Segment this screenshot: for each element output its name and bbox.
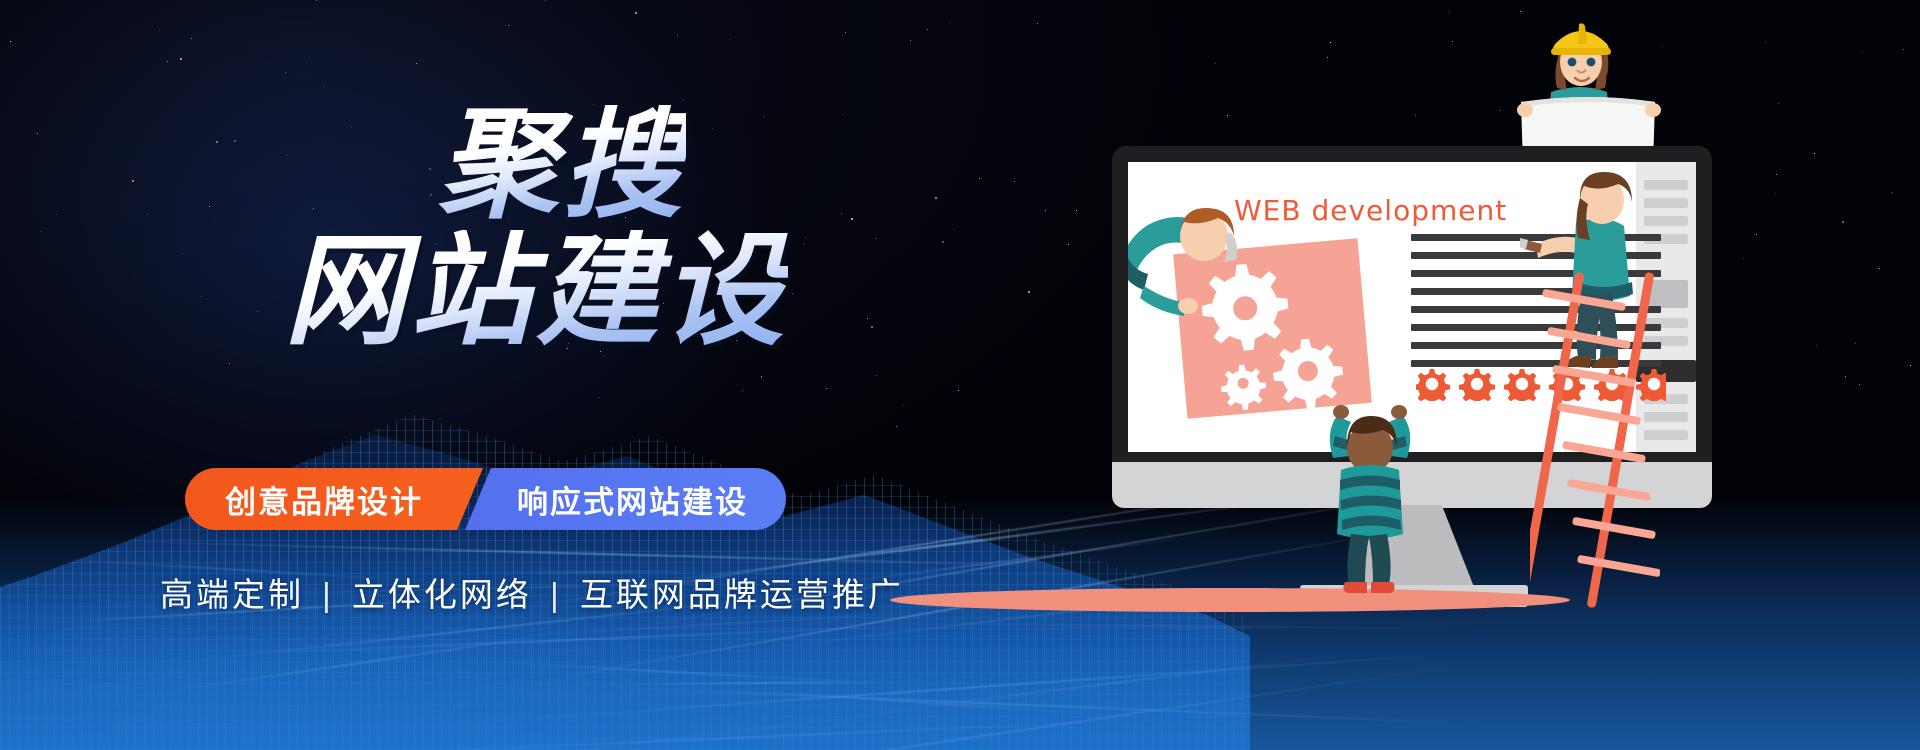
- tag-responsive-website[interactable]: 响应式网站建设: [465, 468, 786, 530]
- tag-label: 创意品牌设计: [225, 477, 423, 522]
- subline-part-3: 互联网品牌运营推广: [580, 576, 904, 613]
- tag-creative-brand-design[interactable]: 创意品牌设计: [185, 468, 483, 530]
- headline-line-1: 聚搜: [438, 105, 686, 225]
- subline-part-2: 立体化网络: [352, 576, 532, 613]
- subline-separator: |: [316, 576, 340, 613]
- hero-banner: 聚搜 网站建设 创意品牌设计 响应式网站建设 高端定制 | 立体化网络 | 互联…: [0, 0, 1920, 750]
- subline-separator: |: [544, 576, 568, 613]
- hard-hat-icon: [1551, 23, 1611, 55]
- headline-line-2: 网站建设: [284, 230, 788, 352]
- illustration: WEB development: [1060, 0, 1920, 750]
- subline-part-1: 高端定制: [160, 576, 304, 613]
- tag-group: 创意品牌设计 响应式网站建设: [185, 468, 786, 530]
- screen-title: WEB development: [1234, 194, 1507, 227]
- worker-lifting-panel: [1315, 400, 1425, 590]
- copy-block: 聚搜 网站建设 创意品牌设计 响应式网站建设 高端定制 | 立体化网络 | 互联…: [0, 0, 940, 750]
- ladder-icon: [1530, 270, 1640, 600]
- worker-left-placing-gear-panel: [1128, 208, 1258, 328]
- subline: 高端定制 | 立体化网络 | 互联网品牌运营推广: [160, 568, 904, 616]
- floor-ellipse: [890, 588, 1570, 612]
- tag-label: 响应式网站建设: [517, 477, 748, 522]
